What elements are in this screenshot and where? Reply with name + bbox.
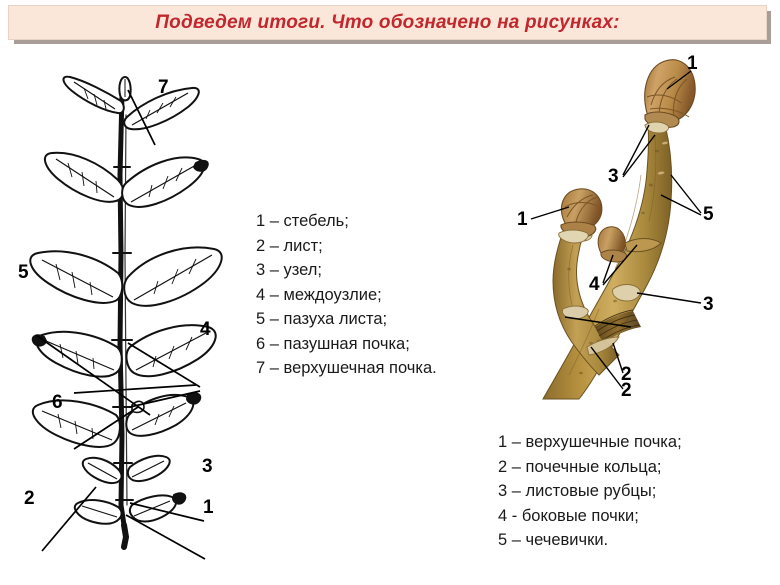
plant-label-5: 5 (18, 263, 29, 282)
twig-label-1-left: 1 (517, 210, 528, 229)
plant-line-drawing: 7 5 4 6 3 2 1 (0, 55, 245, 560)
legend-plant: 1 – стебель; 2 – лист; 3 – узел; 4 – меж… (256, 209, 437, 381)
twig-label-3-upper: 3 (608, 167, 619, 186)
plant-svg (0, 55, 245, 560)
plant-label-1: 1 (203, 498, 214, 517)
plant-label-4: 4 (200, 320, 211, 339)
legend-twig-line-2: 2 – почечные кольца; (498, 455, 682, 480)
legend-plant-line-4: 4 – междоузлие; (256, 283, 437, 308)
legend-plant-line-7: 7 – верхушечная почка. (256, 356, 437, 381)
plant-label-2: 2 (24, 489, 35, 508)
legend-plant-line-1: 1 – стебель; (256, 209, 437, 234)
legend-plant-line-3: 3 – узел; (256, 258, 437, 283)
legend-twig-line-5: 5 – чечевички. (498, 528, 682, 553)
twig-svg (495, 55, 775, 405)
legend-plant-line-6: 6 – пазушная почка; (256, 332, 437, 357)
legend-twig: 1 – верхушечные почка; 2 – почечные коль… (498, 430, 682, 553)
title-banner: Подведем итоги. Что обозначено на рисунк… (8, 5, 767, 40)
plant-label-6: 6 (52, 393, 63, 412)
twig-label-3-lower: 3 (703, 295, 714, 314)
twig-label-2-lower: 2 (621, 381, 632, 400)
plant-label-7: 7 (158, 78, 169, 97)
twig-label-1-top: 1 (687, 54, 698, 73)
legend-twig-line-1: 1 – верхушечные почка; (498, 430, 682, 455)
plant-label-3: 3 (202, 457, 213, 476)
legend-twig-line-3: 3 – листовые рубцы; (498, 479, 682, 504)
twig-illustration: 1 3 1 4 5 3 2 2 (495, 55, 775, 405)
twig-label-4: 4 (589, 275, 600, 294)
twig-label-5: 5 (703, 205, 714, 224)
legend-twig-line-4: 4 - боковые почки; (498, 504, 682, 529)
legend-plant-line-2: 2 – лист; (256, 234, 437, 259)
page-title: Подведем итоги. Что обозначено на рисунк… (155, 12, 619, 34)
legend-plant-line-5: 5 – пазуха листа; (256, 307, 437, 332)
